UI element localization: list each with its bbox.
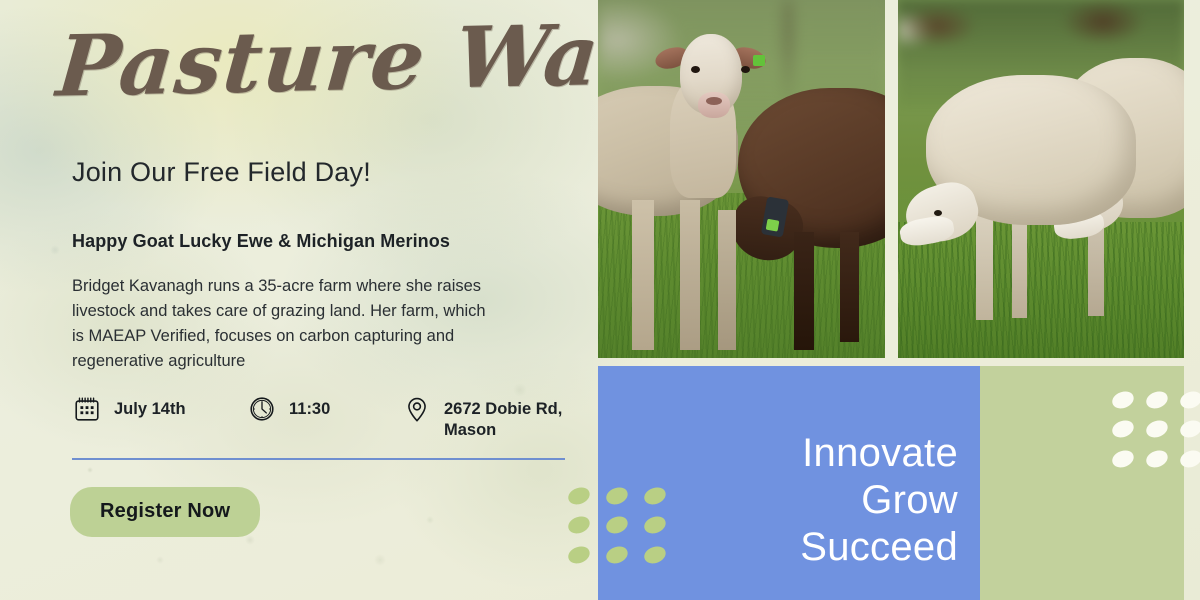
tagline-panel: Innovate Grow Succeed	[598, 366, 980, 600]
detail-time: 11:30	[247, 396, 402, 424]
subtitle: Join Our Free Field Day!	[72, 157, 371, 188]
blob	[566, 485, 592, 507]
detail-date-value: July 14th	[114, 396, 186, 420]
tagline-line-2: Grow	[800, 477, 958, 524]
blob	[1178, 418, 1200, 440]
map-pin-icon	[402, 394, 432, 424]
lamb-ear-tag	[753, 55, 765, 66]
blob	[1110, 418, 1136, 440]
content-column: Pasture Walk Join Our Free Field Day! Ha…	[0, 0, 600, 600]
blob	[604, 514, 630, 536]
blob	[1110, 389, 1136, 411]
blob	[1178, 389, 1200, 411]
grazing-sheep-front-eye	[934, 210, 942, 216]
blob	[1144, 418, 1170, 440]
register-button[interactable]: Register Now	[70, 487, 260, 537]
detail-location: 2672 Dobie Rd, Mason	[402, 396, 582, 441]
photo-right-canvas	[898, 0, 1184, 358]
description-paragraph: Bridget Kavanagh runs a 35-acre farm whe…	[72, 274, 502, 374]
tagline-line-3: Succeed	[800, 524, 958, 571]
detail-time-value: 11:30	[289, 396, 330, 420]
blob-grid-left	[568, 488, 664, 564]
blob	[566, 514, 592, 536]
detail-date: July 14th	[72, 396, 247, 424]
event-details: July 14th 11:30	[72, 396, 582, 441]
blob	[604, 544, 630, 566]
lamb-eye-left	[691, 66, 700, 73]
photo-grazing-sheep	[898, 0, 1184, 358]
tagline: Innovate Grow Succeed	[800, 430, 958, 571]
lamb-eye-right	[741, 66, 750, 73]
photo-lamb-and-brown-sheep	[598, 0, 885, 358]
blob-grid-right	[1112, 392, 1198, 468]
clock-icon	[247, 394, 277, 424]
divider	[72, 458, 565, 460]
event-flyer: Pasture Walk Join Our Free Field Day! Ha…	[0, 0, 1200, 600]
lamb-nose	[706, 97, 722, 105]
tagline-line-1: Innovate	[800, 430, 958, 477]
blob	[1144, 448, 1170, 470]
farm-name: Happy Goat Lucky Ewe & Michigan Merinos	[72, 231, 450, 252]
calendar-icon	[72, 394, 102, 424]
blob	[1144, 389, 1170, 411]
lamb-muzzle	[698, 92, 730, 118]
blob	[566, 544, 592, 566]
detail-location-value: 2672 Dobie Rd, Mason	[444, 396, 579, 441]
lamb-legs	[632, 200, 742, 350]
blob	[1178, 448, 1200, 470]
blob	[1110, 448, 1136, 470]
brown-sheep-legs	[794, 232, 884, 350]
blob	[604, 485, 630, 507]
photo-left-canvas	[598, 0, 885, 358]
